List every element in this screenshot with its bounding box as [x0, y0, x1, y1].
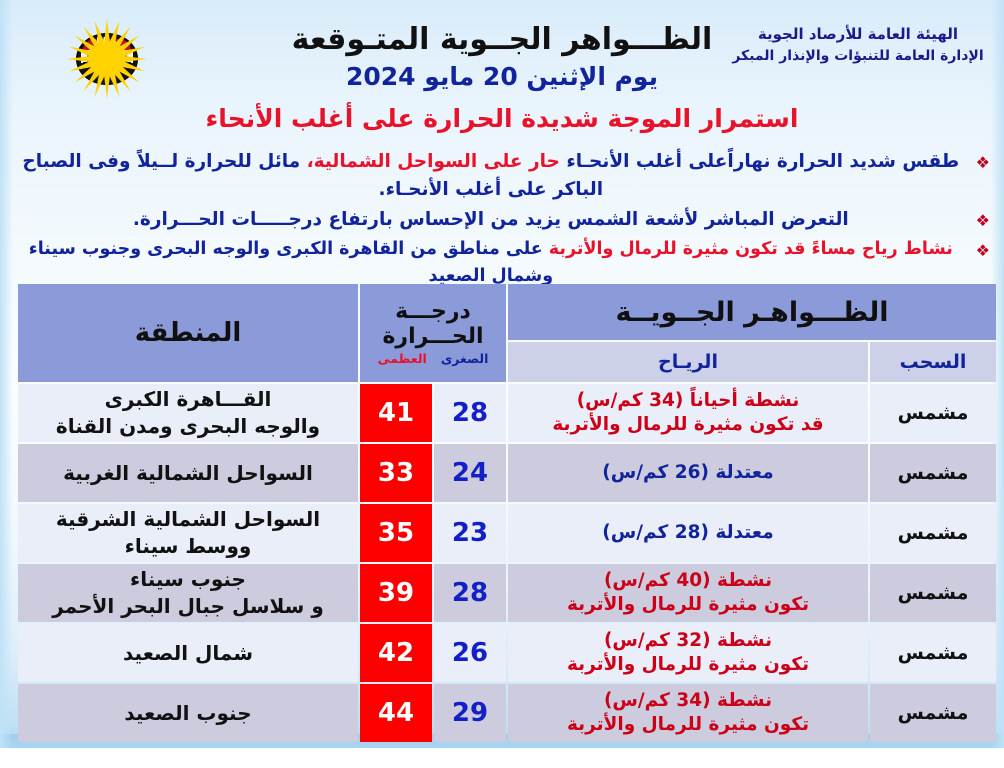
cell-temp-min: 23 — [434, 504, 506, 562]
wind-line: معتدلة (26 كم/س) — [508, 461, 868, 485]
wind-line: معتدلة (28 كم/س) — [508, 521, 868, 545]
table-row: مشمسمعتدلة (28 كم/س)2335السواحل الشمالية… — [18, 504, 996, 562]
cell-winds: نشطة أحياناً (34 كم/س)قد تكون مثيرة للرم… — [508, 384, 868, 442]
cell-temp-min: 26 — [434, 624, 506, 682]
bullet-item: ❖التعرض المباشر لأشعة الشمس يزيد من الإح… — [14, 206, 990, 234]
wind-line: نشطة (34 كم/س) — [508, 689, 868, 713]
bullet-list: ❖طقس شديد الحرارة نهاراًعلى أغلب الأنحـا… — [14, 148, 990, 292]
cell-temp-min: 29 — [434, 684, 506, 742]
bullet-segment: التعرض المباشر لأشعة الشمس يزيد من الإحس… — [133, 209, 849, 230]
table-row: مشمسمعتدلة (26 كم/س)2433السواحل الشمالية… — [18, 444, 996, 502]
region-line: السواحل الشمالية الشرقية — [18, 506, 358, 533]
bullet-diamond-icon: ❖ — [968, 148, 990, 175]
wind-line: تكون مثيرة للرمال والأتربة — [508, 593, 868, 617]
cell-temp-min: 28 — [434, 384, 506, 442]
cell-winds: معتدلة (28 كم/س) — [508, 504, 868, 562]
bullet-segment: على مناطق من القاهرة الكبرى والوجه البحر… — [29, 239, 553, 286]
table-row: مشمسنشطة (32 كم/س)تكون مثيرة للرمال والأ… — [18, 624, 996, 682]
cell-clouds: مشمس — [870, 624, 996, 682]
cell-temp-max: 35 — [360, 504, 432, 562]
region-line: والوجه البحرى ومدن القناة — [18, 413, 358, 440]
wind-line: قد تكون مثيرة للرمال والأتربة — [508, 413, 868, 437]
region-line: القـــاهرة الكبرى — [18, 386, 358, 413]
cell-region: القـــاهرة الكبرىوالوجه البحرى ومدن القن… — [18, 384, 358, 442]
forecast-table-body: مشمسنشطة أحياناً (34 كم/س)قد تكون مثيرة … — [18, 384, 996, 742]
region-line: و سلاسل جبال البحر الأحمر — [18, 593, 358, 620]
cell-region: جنوب سيناءو سلاسل جبال البحر الأحمر — [18, 564, 358, 622]
cell-clouds: مشمس — [870, 504, 996, 562]
forecast-slide: EMA الهيئة العامة للأرصاد الجوية الإدارة… — [0, 0, 1004, 768]
wind-line: نشطة أحياناً (34 كم/س) — [508, 389, 868, 413]
header-temp-min-label: الصغرى — [441, 352, 489, 366]
bullet-segment: طقس شديد الحرارة نهاراًعلى أغلب الأنحـاء — [560, 151, 959, 172]
cell-temp-min: 28 — [434, 564, 506, 622]
bullet-diamond-icon: ❖ — [968, 206, 990, 233]
region-line: شمال الصعيد — [18, 640, 358, 667]
cell-region: جنوب الصعيد — [18, 684, 358, 742]
cell-winds: نشطة (34 كم/س)تكون مثيرة للرمال والأتربة — [508, 684, 868, 742]
wind-line: تكون مثيرة للرمال والأتربة — [508, 713, 868, 737]
table-header-row-1: الظـــواهـر الجــويــة درجـــة الحـــرار… — [18, 284, 996, 340]
wind-line: نشطة (40 كم/س) — [508, 569, 868, 593]
region-line: جنوب الصعيد — [18, 700, 358, 727]
headline-warning: استمرار الموجة شديدة الحرارة على أغلب ال… — [0, 104, 1004, 133]
table-row: مشمسنشطة (34 كم/س)تكون مثيرة للرمال والأ… — [18, 684, 996, 742]
page-title: الظـــواهر الجــوية المتـوقعة — [0, 22, 1004, 57]
cell-temp-max: 41 — [360, 384, 432, 442]
cell-clouds: مشمس — [870, 384, 996, 442]
cell-clouds: مشمس — [870, 444, 996, 502]
forecast-date: يوم الإثنين 20 مايو 2024 — [0, 62, 1004, 91]
bullet-text: التعرض المباشر لأشعة الشمس يزيد من الإحس… — [14, 206, 968, 234]
cell-region: السواحل الشمالية الشرقيةووسط سيناء — [18, 504, 358, 562]
forecast-table: الظـــواهـر الجــويــة درجـــة الحـــرار… — [16, 282, 998, 744]
region-line: السواحل الشمالية الغربية — [18, 460, 358, 487]
cell-temp-max: 42 — [360, 624, 432, 682]
header-temp-max-label: العظمى — [378, 352, 427, 366]
page-header: EMA الهيئة العامة للأرصاد الجوية الإدارة… — [0, 0, 1004, 100]
header-winds: الريـاح — [508, 342, 868, 382]
cell-clouds: مشمس — [870, 684, 996, 742]
cell-region: السواحل الشمالية الغربية — [18, 444, 358, 502]
table-row: مشمسنشطة أحياناً (34 كم/س)قد تكون مثيرة … — [18, 384, 996, 442]
header-temperature: درجـــة الحـــرارة الصغرى العظمى — [360, 284, 506, 382]
wind-line: تكون مثيرة للرمال والأتربة — [508, 653, 868, 677]
bullet-diamond-icon: ❖ — [968, 236, 990, 263]
bullet-text: طقس شديد الحرارة نهاراًعلى أغلب الأنحـاء… — [14, 148, 968, 204]
header-temperature-label: درجـــة الحـــرارة — [360, 300, 506, 349]
table-row: مشمسنشطة (40 كم/س)تكون مثيرة للرمال والأ… — [18, 564, 996, 622]
cell-temp-max: 33 — [360, 444, 432, 502]
bullet-segment: حار على السواحل الشمالية، — [300, 151, 560, 172]
region-line: ووسط سيناء — [18, 533, 358, 560]
header-clouds: السحب — [870, 342, 996, 382]
wind-line: نشطة (32 كم/س) — [508, 629, 868, 653]
cell-temp-max: 39 — [360, 564, 432, 622]
header-region: المنطقة — [18, 284, 358, 382]
cell-region: شمال الصعيد — [18, 624, 358, 682]
bullet-segment: نشاط رياح مساءً قد تكون مثيرة للرمال وال… — [543, 239, 953, 259]
bullet-item: ❖طقس شديد الحرارة نهاراًعلى أغلب الأنحـا… — [14, 148, 990, 204]
region-line: جنوب سيناء — [18, 566, 358, 593]
cell-temp-max: 44 — [360, 684, 432, 742]
cell-winds: نشطة (32 كم/س)تكون مثيرة للرمال والأتربة — [508, 624, 868, 682]
cell-clouds: مشمس — [870, 564, 996, 622]
cell-temp-min: 24 — [434, 444, 506, 502]
cell-winds: نشطة (40 كم/س)تكون مثيرة للرمال والأتربة — [508, 564, 868, 622]
header-temperature-subs: الصغرى العظمى — [360, 352, 506, 366]
header-phenomena: الظـــواهـر الجــويــة — [508, 284, 996, 340]
cell-winds: معتدلة (26 كم/س) — [508, 444, 868, 502]
